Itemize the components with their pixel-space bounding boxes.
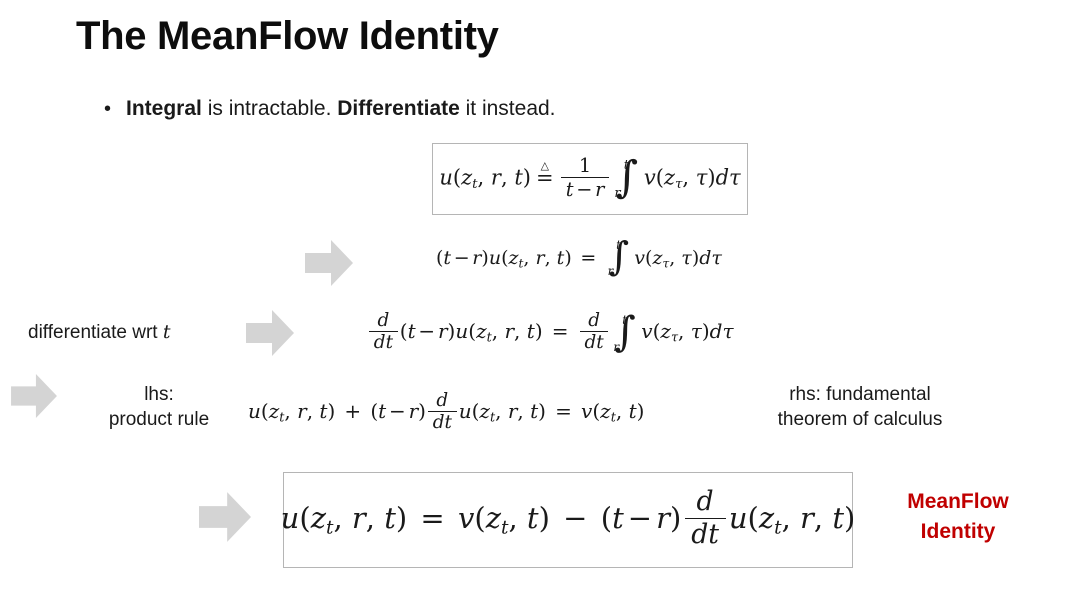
flow-arrow-icon [11,374,57,418]
equation-multiplied-wrapper: (t−r)u(zt, r, t) = t∫rv(zτ, τ)dτ [436,243,722,274]
equation-box-meanflow-identity: u(zt, r, t) = v(zt, t) − (t−r)ddtu(zt, r… [283,472,853,568]
bullet-word-integral: Integral [126,97,202,120]
bullet-marker-icon: • [104,98,126,121]
page-title: The MeanFlow Identity [76,14,499,59]
equation-differentiated: ddt(t−r)u(zt, r, t) = ddtt∫rv(zτ, τ)dτ [367,319,734,343]
meanflow-label-line2: Identity [868,517,1048,547]
equation-expanded-wrapper: u(zt, r, t) + (t−r)ddtu(zt, r, t) = v(zt… [248,392,644,434]
slide-canvas: The MeanFlow Identity •Integral is intra… [0,0,1080,602]
bullet-line: •Integral is intractable. Differentiate … [104,97,556,121]
annotation-differentiate-wrt: differentiate wrt t [28,320,170,346]
flow-arrow-icon [199,492,251,542]
annotation-lhs-line2: product rule [84,408,234,433]
meanflow-label-line1: MeanFlow [868,487,1048,517]
annotation-lhs-line1: lhs: [84,383,234,408]
annotation-lhs-product-rule: lhs: product rule [84,383,234,432]
meanflow-identity-label: MeanFlow Identity [868,487,1048,547]
bullet-word-differentiate: Differentiate [337,97,460,120]
annotation-differentiate-text: differentiate wrt [28,322,163,343]
equation-definition: u(zt, r, t)△=1t−rt∫rv(zτ, τ)dτ [439,157,740,201]
equation-meanflow-identity: u(zt, r, t) = v(zt, t) − (t−r)ddtu(zt, r… [281,490,856,550]
equation-box-definition: u(zt, r, t)△=1t−rt∫rv(zτ, τ)dτ [432,143,748,215]
equation-differentiated-wrapper: ddt(t−r)u(zt, r, t) = ddtt∫rv(zτ, τ)dτ [367,312,734,354]
flow-arrow-icon [305,240,353,286]
equation-multiplied: (t−r)u(zt, r, t) = t∫rv(zτ, τ)dτ [436,247,722,269]
bullet-text: Integral is intractable. Differentiate i… [126,97,556,120]
equation-expanded: u(zt, r, t) + (t−r)ddtu(zt, r, t) = v(zt… [248,399,644,423]
bullet-mid-text: is intractable. [202,97,337,120]
annotation-rhs-line2: theorem of calculus [740,408,980,433]
flow-arrow-icon [246,310,294,356]
annotation-rhs-ftc: rhs: fundamental theorem of calculus [740,383,980,432]
annotation-rhs-line1: rhs: fundamental [740,383,980,408]
annotation-variable-t: t [163,321,171,343]
bullet-end-text: it instead. [460,97,556,120]
